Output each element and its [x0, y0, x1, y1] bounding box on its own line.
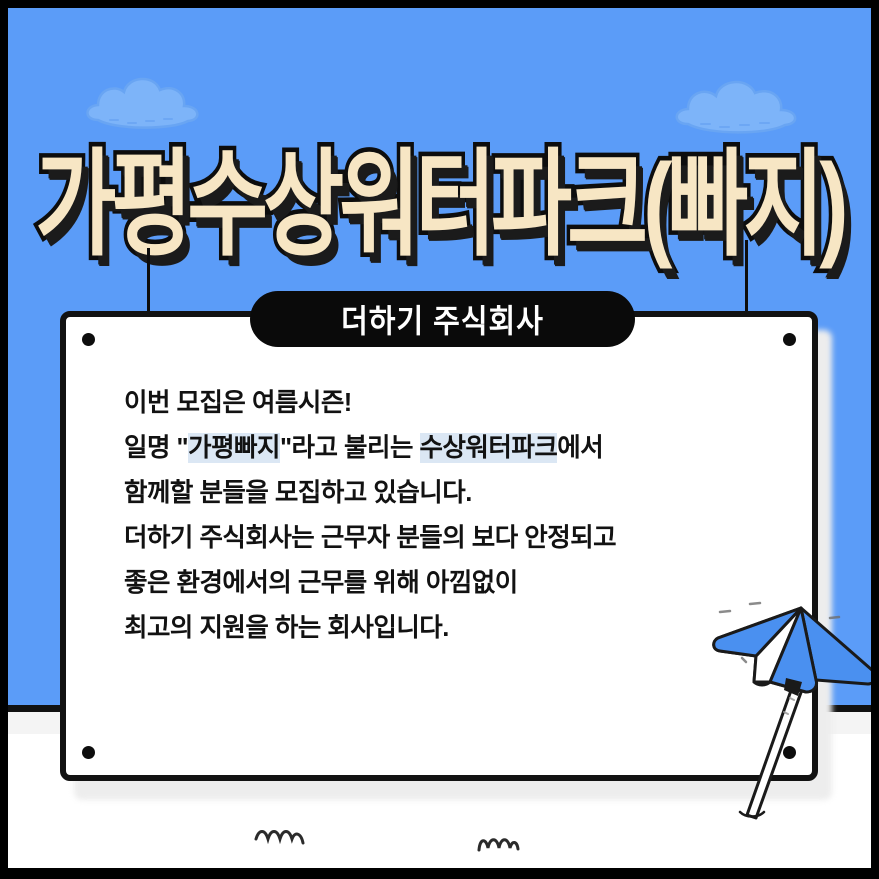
- company-badge-label: 더하기 주식회사: [341, 296, 544, 342]
- body-text-run: 더하기 주식회사는 근무자 분들의 보다 안정되고: [124, 524, 616, 552]
- body-line: 좋은 환경에서의 근무를 위해 아낌없이: [124, 561, 764, 606]
- wave-squiggle-icon-left: [253, 827, 309, 847]
- body-line: 함께할 분들을 모집하고 있습니다.: [124, 471, 764, 516]
- hanging-wire-left: [147, 248, 150, 314]
- screw-bottom-left: [82, 746, 95, 759]
- screw-top-left: [82, 333, 95, 346]
- body-text-run: 에서: [557, 434, 603, 462]
- body-line: 더하기 주식회사는 근무자 분들의 보다 안정되고: [124, 516, 764, 561]
- screw-top-right: [783, 333, 796, 346]
- body-text-run: 일명 ": [124, 434, 188, 462]
- company-badge: 더하기 주식회사: [250, 291, 635, 347]
- body-line: 일명 "가평빠지"라고 불리는 수상워터파크에서: [124, 426, 764, 471]
- poster-canvas: 가평수상워터파크(빠지) 이번 모집은 여름시즌! 일명 "가평빠지"라고 불리…: [0, 0, 879, 879]
- wave-squiggle-icon-right: [476, 834, 522, 854]
- hanging-wire-right: [745, 240, 748, 314]
- body-line: 이번 모집은 여름시즌!: [124, 381, 764, 426]
- cloud-icon-left: [80, 68, 210, 138]
- highlighted-term: 수상워터파크: [420, 433, 558, 463]
- cloud-icon-right: [668, 70, 808, 142]
- highlighted-term: 가평빠지: [188, 433, 280, 463]
- body-text-run: 좋은 환경에서의 근무를 위해 아낌없이: [124, 569, 518, 597]
- body-text-run: 최고의 지원을 하는 회사입니다.: [124, 614, 449, 642]
- body-text-run: "라고 불리는: [280, 434, 420, 462]
- beach-umbrella-icon: [698, 586, 871, 826]
- body-copy: 이번 모집은 여름시즌! 일명 "가평빠지"라고 불리는 수상워터파크에서 함께…: [124, 381, 764, 651]
- body-text-run: 함께할 분들을 모집하고 있습니다.: [124, 479, 472, 507]
- body-line: 최고의 지원을 하는 회사입니다.: [124, 606, 764, 651]
- body-text-run: 이번 모집은 여름시즌!: [124, 389, 352, 417]
- poster-inner-canvas: 가평수상워터파크(빠지) 이번 모집은 여름시즌! 일명 "가평빠지"라고 불리…: [8, 8, 871, 868]
